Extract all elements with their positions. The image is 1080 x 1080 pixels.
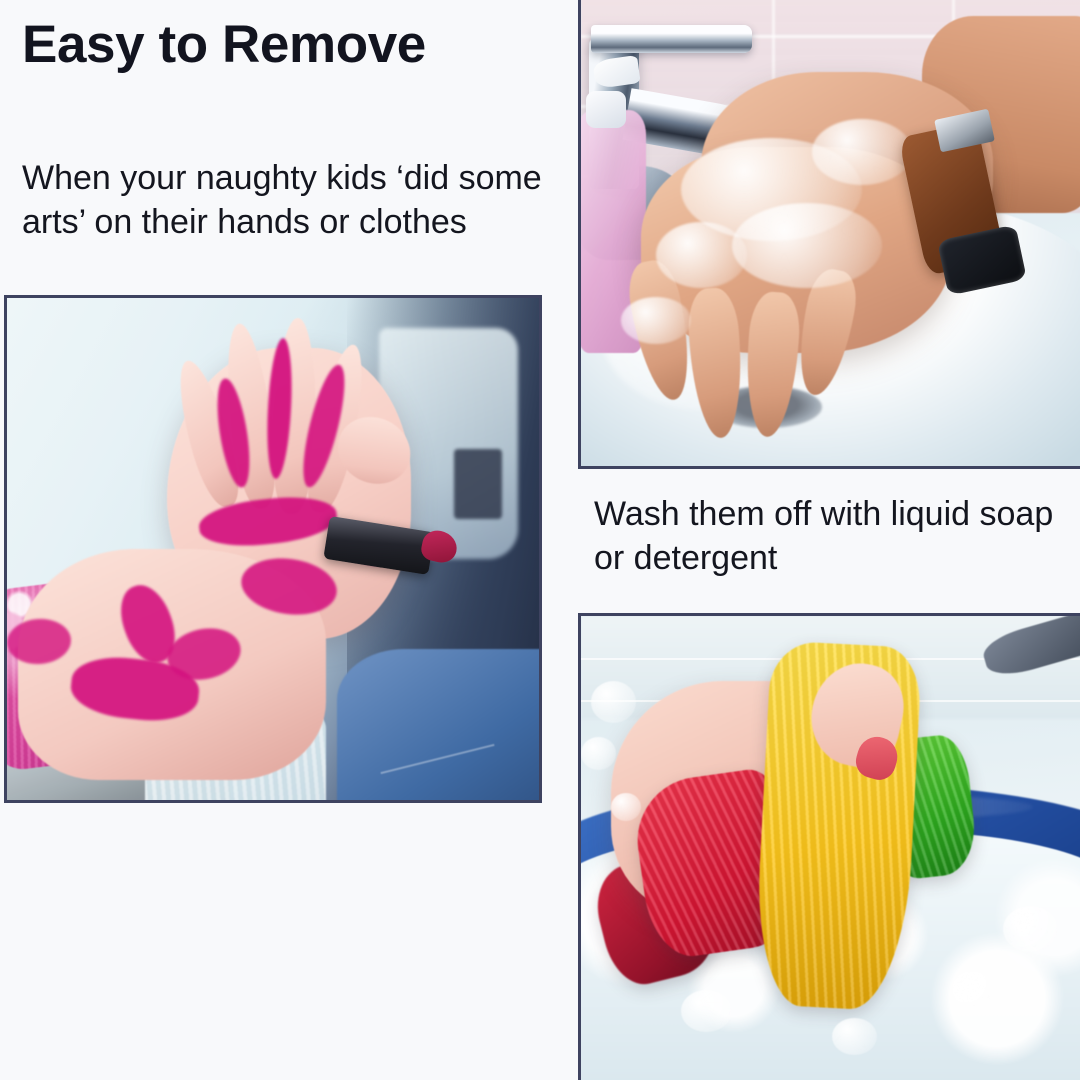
soap-bubble [681,990,731,1032]
soap-lather [812,119,912,185]
soap-lather [621,297,691,344]
washing-cloths-basin-photo [578,613,1080,1080]
infographic-canvas: Easy to Remove When your naughty kids ‘d… [0,0,1080,1080]
denim-jeans [337,649,539,800]
photo-canvas-cloth [581,616,1080,1080]
soap-lather [732,203,883,287]
soapy-hands-sink-photo [578,0,1080,469]
soap-bubble [832,1018,877,1055]
caption-right-step: Wash them off with liquid soap or deterg… [594,492,1064,580]
caption-left-step: When your naughty kids ‘did some arts’ o… [22,156,550,244]
child-hands-lipstick-photo [4,295,542,803]
photo-canvas-wash [581,0,1080,466]
soap-bubble [581,737,616,770]
soap-lather [656,222,746,288]
photo-canvas-child [7,298,539,800]
car-air-vent [454,449,502,519]
faucet-spout [591,25,752,53]
soap-dispenser-cap [586,91,626,129]
soap-bubble [1003,906,1058,953]
page-title: Easy to Remove [22,16,542,73]
soap-bubble [952,971,992,1008]
